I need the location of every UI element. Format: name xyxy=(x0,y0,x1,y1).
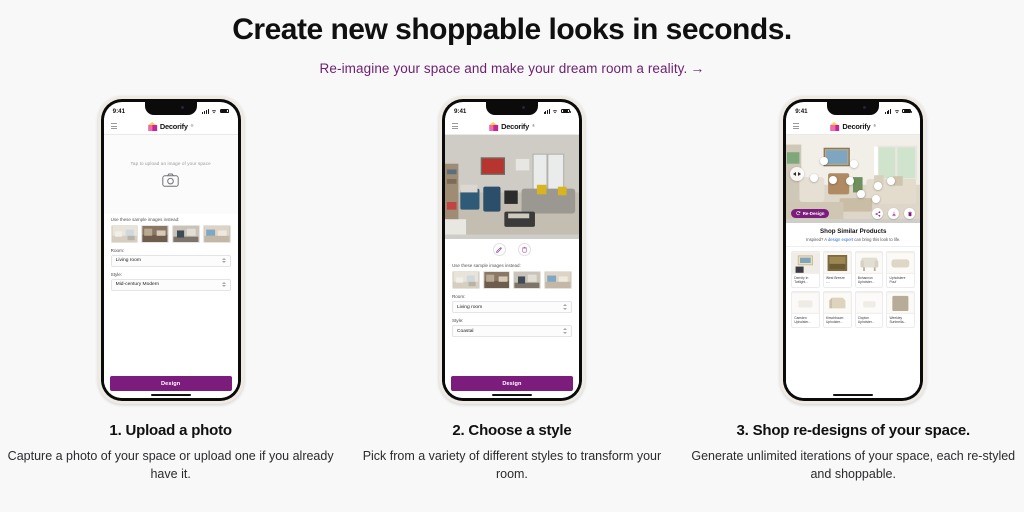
arrow-right-icon: → xyxy=(690,60,704,76)
redesigned-room-photo[interactable]: Re-Design xyxy=(786,135,920,223)
spacer xyxy=(104,296,238,375)
status-time: 9:41 xyxy=(454,108,466,115)
chevron-updown-icon xyxy=(563,304,567,309)
landing-page: Create new shoppable looks in seconds. R… xyxy=(0,0,1024,512)
product-card[interactable]: Weekley Sunbrella... xyxy=(886,291,915,328)
edit-photo-button[interactable] xyxy=(493,243,506,256)
sample-image-thumb[interactable] xyxy=(172,225,200,243)
chevron-updown-icon xyxy=(563,328,567,333)
subtitle-text: Re-imagine your space and make your drea… xyxy=(320,61,688,76)
product-name: Dernity In Twilight... xyxy=(792,274,819,287)
re-design-button[interactable]: Re-Design xyxy=(791,209,829,218)
app-header-1: Decorify ® xyxy=(104,118,238,135)
step-column-2: 9:41 Decorify xyxy=(341,96,682,483)
step-text: Capture a photo of your space or upload … xyxy=(6,447,336,483)
chevron-updown-icon xyxy=(222,282,226,287)
step-title: 1. Upload a photo xyxy=(6,422,336,439)
re-design-label: Re-Design xyxy=(803,211,825,216)
product-card[interactable]: Clopton Upholster... xyxy=(855,291,884,328)
photo-tools xyxy=(445,239,579,260)
style-value: Mid-century Modern xyxy=(116,282,160,287)
design-button[interactable]: Design xyxy=(451,376,573,391)
step-text: Pick from a variety of different styles … xyxy=(347,447,677,483)
shop-sub-after: can bring this look to life. xyxy=(853,237,900,242)
chevron-updown-icon xyxy=(222,258,226,263)
design-expert-link[interactable]: design expert xyxy=(828,237,853,242)
notch xyxy=(145,102,197,115)
uploaded-room-photo[interactable] xyxy=(445,135,579,239)
sample-image-thumb[interactable] xyxy=(203,225,231,243)
step-title: 2. Choose a style xyxy=(347,422,677,439)
app-header-2: Decorify ® xyxy=(445,118,579,135)
phone-mockup-1: 9:41 Decorify xyxy=(98,96,244,404)
brand-name: Decorify xyxy=(501,122,529,131)
battery-icon xyxy=(220,109,229,114)
pencil-icon xyxy=(496,246,503,253)
product-name: Kirschbaum Upholster... xyxy=(824,314,851,327)
shop-sub-before: Inspired? A xyxy=(806,237,828,242)
cta-container-2: Design xyxy=(445,374,579,391)
page-subtitle: Re-imagine your space and make your drea… xyxy=(0,60,1024,76)
cta-container-1: Design xyxy=(104,374,238,391)
style-select[interactable]: Coastal xyxy=(452,325,572,337)
product-card[interactable]: Bohannon Upholster... xyxy=(855,251,884,288)
room-photo-art xyxy=(445,135,579,235)
room-value: Living room xyxy=(116,258,141,263)
status-time: 9:41 xyxy=(113,108,125,115)
product-name: Upholstere Pouf xyxy=(887,274,914,287)
wifi-icon xyxy=(211,109,217,114)
product-name: Weekley Sunbrella... xyxy=(887,314,914,327)
step-caption-1: 1. Upload a photo Capture a photo of you… xyxy=(6,422,336,483)
trash-icon xyxy=(521,246,528,253)
upload-dropzone[interactable]: Tap to upload an image of your space xyxy=(104,135,238,214)
step-column-3: 9:41 Decorify xyxy=(683,96,1024,483)
upload-hint-text: Tap to upload an image of your space xyxy=(131,161,211,166)
status-time: 9:41 xyxy=(795,108,807,115)
trash-icon xyxy=(907,211,913,217)
product-grid: Dernity In Twilight... West Breeze -... … xyxy=(786,247,920,328)
product-name: West Breeze -... xyxy=(824,274,851,287)
battery-icon xyxy=(902,109,911,114)
brand-trademark: ® xyxy=(873,124,876,128)
menu-icon[interactable] xyxy=(111,123,117,129)
brand-logo: Decorify ® xyxy=(830,122,876,131)
samples-label: Use these sample images instead: xyxy=(452,263,572,268)
sample-image-thumb[interactable] xyxy=(483,271,511,289)
brand-trademark: ® xyxy=(191,124,194,128)
product-card[interactable]: Dernity In Twilight... xyxy=(791,251,820,288)
sample-image-thumb[interactable] xyxy=(544,271,572,289)
samples-label: Use these sample images instead: xyxy=(111,217,231,222)
phone-bezel-3: 9:41 Decorify xyxy=(783,99,923,401)
room-value: Living room xyxy=(457,305,482,310)
spacer xyxy=(786,328,920,391)
product-image xyxy=(856,252,883,274)
notch xyxy=(827,102,879,115)
product-card[interactable]: Kirschbaum Upholster... xyxy=(823,291,852,328)
decorify-cube-icon xyxy=(489,122,498,131)
battery-icon xyxy=(561,109,570,114)
product-name: Camden Upholster... xyxy=(792,314,819,327)
menu-icon[interactable] xyxy=(452,123,458,129)
cellular-signal-icon xyxy=(885,109,891,114)
front-camera-icon xyxy=(522,106,525,109)
save-icon xyxy=(891,211,897,217)
front-camera-icon xyxy=(863,106,866,109)
menu-icon[interactable] xyxy=(793,123,799,129)
front-camera-icon xyxy=(181,106,184,109)
step-column-1: 9:41 Decorify xyxy=(0,96,341,483)
delete-button[interactable] xyxy=(904,208,915,219)
shop-subtitle: Inspired? A design expert can bring this… xyxy=(786,237,920,247)
room-select[interactable]: Living room xyxy=(111,255,231,267)
wifi-icon xyxy=(894,109,900,114)
room-label: Room: xyxy=(452,294,572,299)
share-button[interactable] xyxy=(872,208,883,219)
app-header-3: Decorify ® xyxy=(786,118,920,135)
shop-title: Shop Similar Products xyxy=(786,223,920,237)
style-label: Style: xyxy=(452,318,572,323)
phone-mockup-2: 9:41 Decorify xyxy=(439,96,585,404)
home-indicator xyxy=(833,394,873,396)
product-image xyxy=(856,292,883,314)
sample-image-thumb[interactable] xyxy=(141,225,169,243)
phone-screen-3: 9:41 Decorify xyxy=(786,102,920,398)
wifi-icon xyxy=(552,109,558,114)
step-caption-3: 3. Shop re-designs of your space. Genera… xyxy=(688,422,1018,483)
product-image xyxy=(824,292,851,314)
phone-mockup-3: 9:41 Decorify xyxy=(780,96,926,404)
step-text: Generate unlimited iterations of your sp… xyxy=(688,447,1018,483)
delete-photo-button[interactable] xyxy=(518,243,531,256)
decorify-cube-icon xyxy=(148,122,157,131)
product-image xyxy=(792,252,819,274)
decorify-cube-icon xyxy=(830,122,839,131)
brand-name: Decorify xyxy=(842,122,870,131)
cellular-signal-icon xyxy=(202,109,208,114)
sample-image-thumb[interactable] xyxy=(452,271,480,289)
home-indicator xyxy=(492,394,532,396)
brand-name: Decorify xyxy=(160,122,188,131)
product-card[interactable]: Upholstere Pouf xyxy=(886,251,915,288)
product-name: Clopton Upholster... xyxy=(856,314,883,327)
cellular-signal-icon xyxy=(544,109,550,114)
screen-body-3: Re-Design xyxy=(786,135,920,398)
home-indicator xyxy=(151,394,191,396)
product-image xyxy=(792,292,819,314)
phone-screen-1: 9:41 Decorify xyxy=(104,102,238,398)
design-button[interactable]: Design xyxy=(110,376,232,391)
save-button[interactable] xyxy=(888,208,899,219)
room-select[interactable]: Living room xyxy=(452,301,572,313)
brand-logo: Decorify ® xyxy=(148,122,194,131)
page-title: Create new shoppable looks in seconds. xyxy=(0,0,1024,47)
notch xyxy=(486,102,538,115)
style-select[interactable]: Mid-century Modern xyxy=(111,279,231,291)
spacer xyxy=(445,342,579,374)
options-form-2: Use these sample images instead: Room: xyxy=(445,260,579,342)
refresh-icon xyxy=(796,211,801,216)
camera-icon xyxy=(162,173,179,187)
style-label: Style: xyxy=(111,272,231,277)
step-title: 3. Shop re-designs of your space. xyxy=(688,422,1018,439)
steps-row: 9:41 Decorify xyxy=(0,96,1024,483)
sample-image-thumb[interactable] xyxy=(111,225,139,243)
sample-images-row xyxy=(111,225,231,243)
phone-bezel-1: 9:41 Decorify xyxy=(101,99,241,401)
sample-image-thumb[interactable] xyxy=(513,271,541,289)
phone-screen-2: 9:41 Decorify xyxy=(445,102,579,398)
product-image xyxy=(887,252,914,274)
screen-body-1: Tap to upload an image of your space Use… xyxy=(104,135,238,398)
brand-logo: Decorify ® xyxy=(489,122,535,131)
product-image xyxy=(824,252,851,274)
sample-images-row xyxy=(452,271,572,289)
photo-actions xyxy=(872,208,915,219)
options-form-1: Use these sample images instead: Room: xyxy=(104,214,238,296)
phone-bezel-2: 9:41 Decorify xyxy=(442,99,582,401)
step-caption-2: 2. Choose a style Pick from a variety of… xyxy=(347,422,677,483)
redesigned-room-art xyxy=(786,135,920,219)
style-value: Coastal xyxy=(457,329,474,334)
brand-trademark: ® xyxy=(532,124,535,128)
share-icon xyxy=(875,211,881,217)
product-image xyxy=(887,292,914,314)
product-card[interactable]: Camden Upholster... xyxy=(791,291,820,328)
product-name: Bohannon Upholster... xyxy=(856,274,883,287)
screen-body-2: Use these sample images instead: Room: xyxy=(445,135,579,398)
room-label: Room: xyxy=(111,248,231,253)
product-card[interactable]: West Breeze -... xyxy=(823,251,852,288)
